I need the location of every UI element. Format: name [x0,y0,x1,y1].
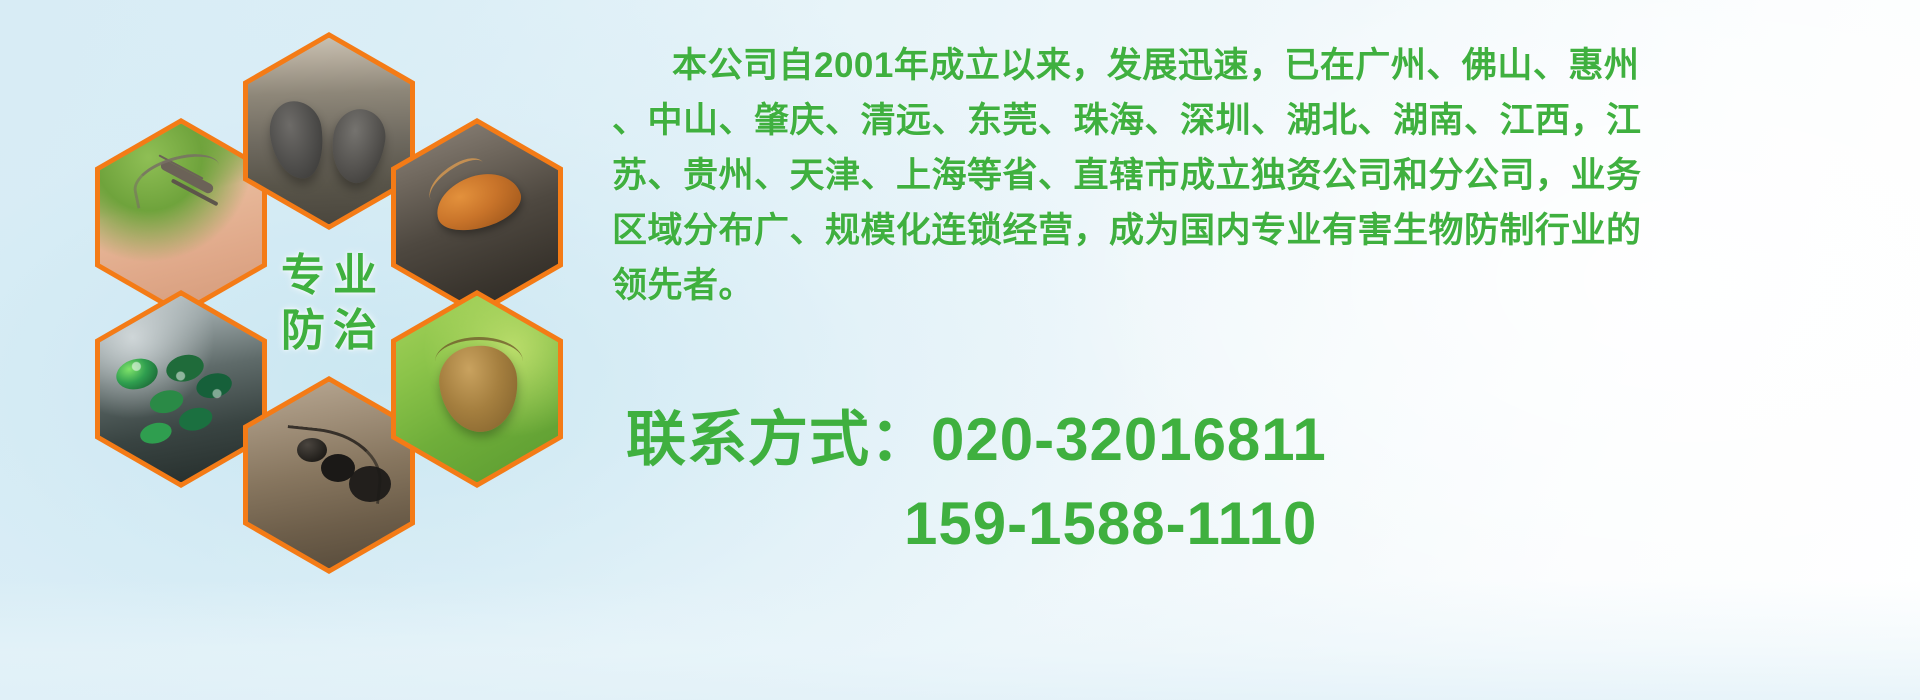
fly-icon [100,296,262,483]
hexagon-photo-flies[interactable] [95,290,267,488]
contact-primary-row: 联系方式：020-32016811 [612,398,1912,482]
hexagon-photo-rats[interactable] [243,32,415,230]
logo-slogan-line1: 专业 [273,248,385,303]
hexagon-photo-mosquito[interactable] [95,118,267,316]
company-intro-paragraph: 本公司自2001年成立以来，发展迅速，已在广州、佛山、惠州 、中山、肇庆、清远、… [612,38,1912,313]
banner-content: 本公司自2001年成立以来，发展迅速，已在广州、佛山、惠州 、中山、肇庆、清远、… [612,0,1920,700]
contact-block: 联系方式：020-32016811 159-1588-1110 [612,398,1912,566]
logo-slogan: 专业 防治 [243,204,415,402]
contact-secondary-row: 159-1588-1110 [612,482,1912,566]
cockroach-icon [396,124,558,311]
contact-label: 联系方式： [626,406,931,473]
hexagon-photo-mosquito-inner [100,124,262,311]
hexagon-photo-rats-inner [248,38,410,225]
logo-slogan-line2: 防治 [273,303,385,358]
intro-line-4: 区域分布广、规模化连锁经营，成为国内专业有害生物防制行业的 [612,203,1912,258]
hexagon-photo-cluster: 专业 防治 [95,18,575,548]
hexagon-photo-cockroach[interactable] [391,118,563,316]
promo-banner: 专业 防治 本公司自2001年成立以来，发展迅速，已在广州、佛山、惠州 、中山、… [0,0,1920,700]
hexagon-photo-stinkbug-inner [396,296,558,483]
contact-phone-primary[interactable]: 020-32016811 [931,406,1327,473]
ant-icon [248,382,410,569]
hexagon-photo-cockroach-inner [396,124,558,311]
hexagon-photo-ant-inner [248,382,410,569]
hexagon-photo-ant[interactable] [243,376,415,574]
mosquito-icon [100,124,262,311]
contact-phone-secondary[interactable]: 159-1588-1110 [904,490,1317,557]
stink-bug-icon [396,296,558,483]
intro-line-1: 本公司自2001年成立以来，发展迅速，已在广州、佛山、惠州 [612,38,1912,93]
rat-icon [248,38,410,225]
intro-line-2: 、中山、肇庆、清远、东莞、珠海、深圳、湖北、湖南、江西，江 [612,93,1912,148]
hexagon-photo-flies-inner [100,296,262,483]
intro-line-5: 领先者。 [612,258,1912,313]
intro-line-3: 苏、贵州、天津、上海等省、直辖市成立独资公司和分公司，业务 [612,148,1912,203]
hexagon-photo-stinkbug[interactable] [391,290,563,488]
